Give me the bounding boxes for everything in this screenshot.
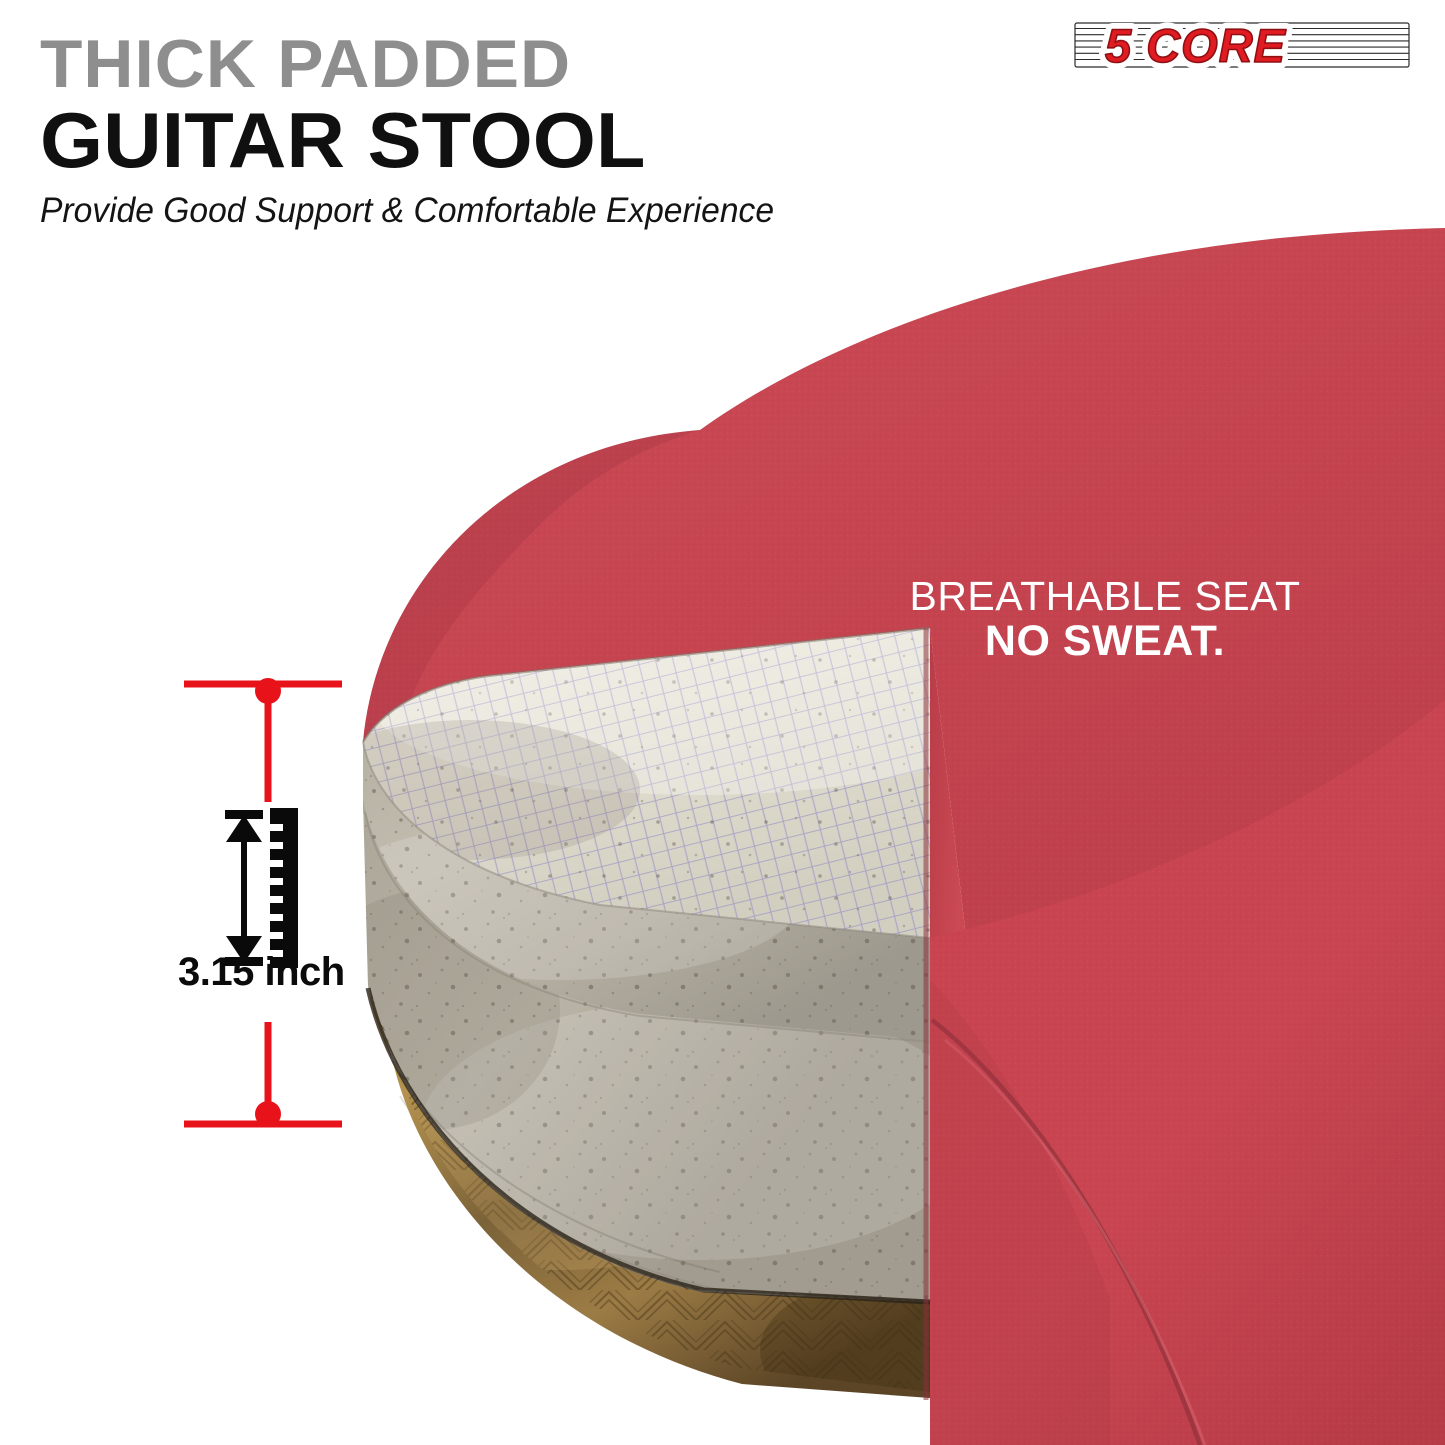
breathable-seat-callout: BREATHABLE SEAT NO SWEAT. — [880, 575, 1330, 665]
headline-eyebrow: THICK PADDED — [40, 32, 958, 97]
brand-logo-5core: 5 CORE 5 CORE — [1073, 14, 1411, 76]
page-title: GUITAR STOOL — [40, 101, 976, 179]
product-marketing-image: THICK PADDED GUITAR STOOL Provide Good S… — [0, 0, 1445, 1445]
headline-subtitle: Provide Good Support & Comfortable Exper… — [40, 191, 904, 231]
dimension-guide-top — [184, 678, 342, 802]
thickness-dimension-annotation — [178, 672, 388, 1142]
logo-wordmark: 5 CORE — [1105, 19, 1287, 72]
dimension-guide-bottom — [184, 1022, 342, 1127]
callout-line-1: BREATHABLE SEAT — [880, 575, 1330, 618]
logo-text: 5 CORE — [1105, 19, 1287, 72]
callout-line-2: NO SWEAT. — [880, 619, 1330, 665]
headline-block: THICK PADDED GUITAR STOOL Provide Good S… — [40, 32, 940, 231]
ruler-arrow-icon — [225, 808, 298, 968]
dimension-value-label: 3.15 inch — [178, 950, 388, 995]
